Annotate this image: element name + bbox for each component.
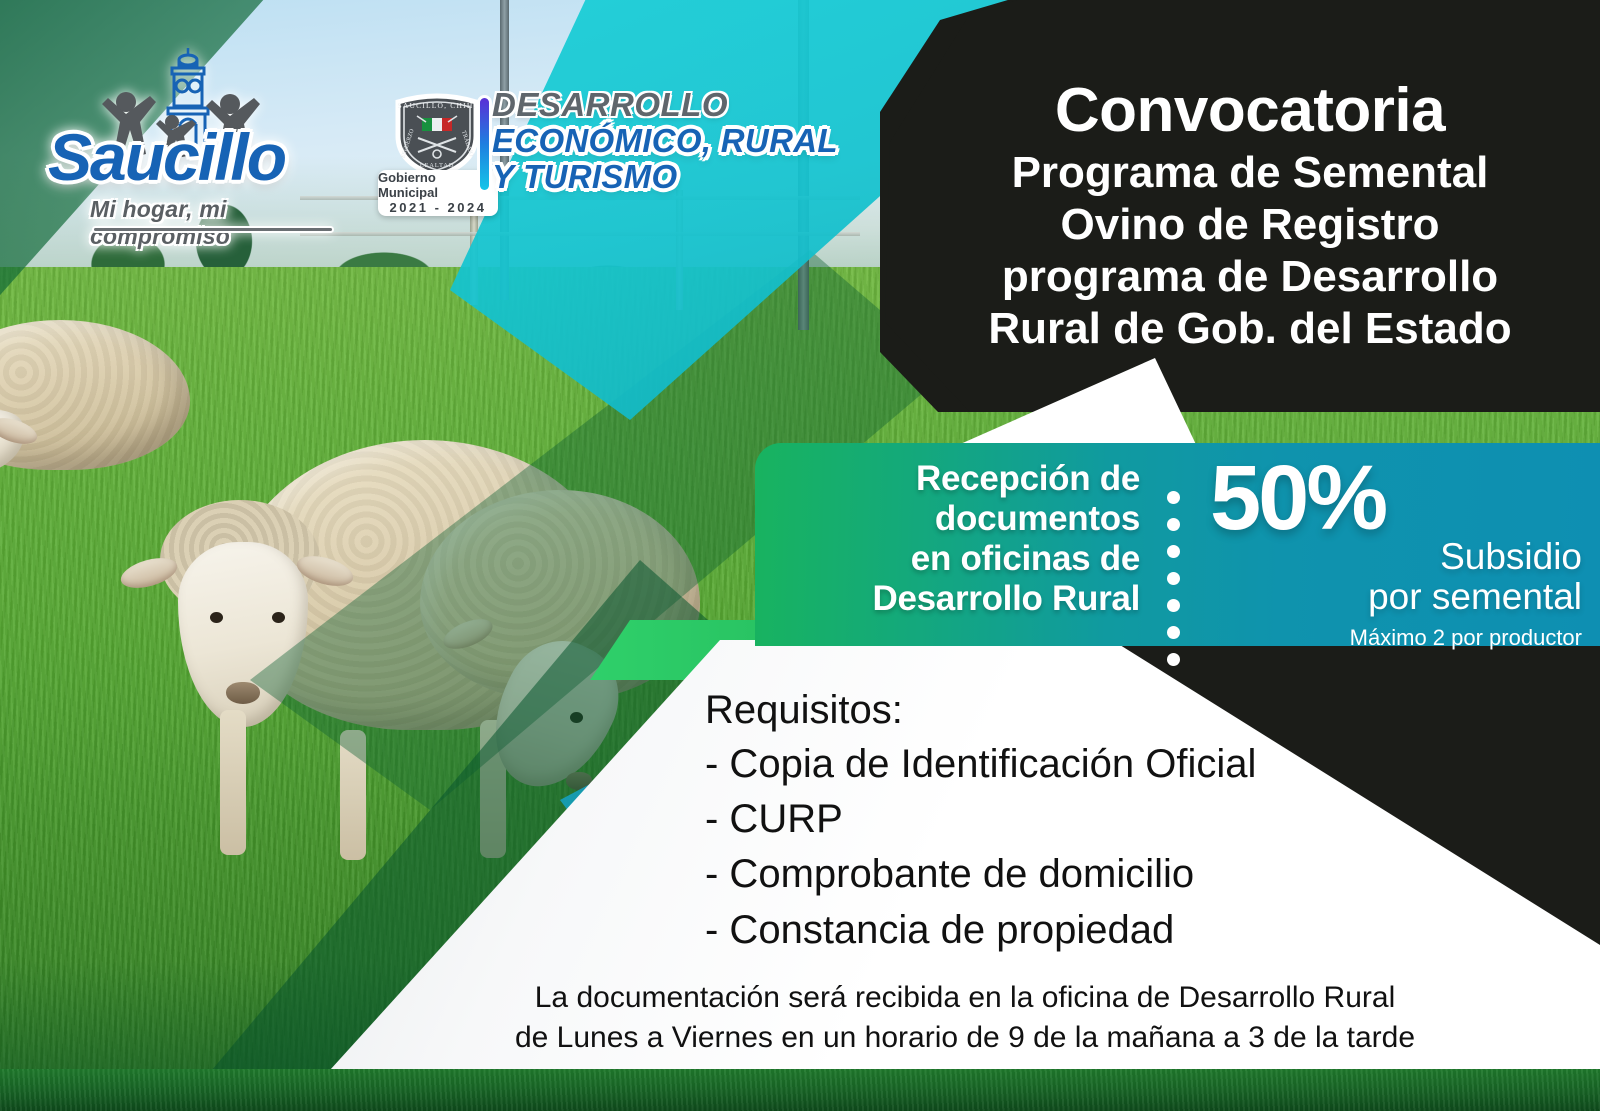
coat-of-arms: SAUCILLO, CHIH. ESFUERZO TRABAJO LEALTAD… [384, 92, 492, 210]
logo-tagline: Mi hogar, mi compromiso [90, 196, 340, 250]
divider-dot [1167, 545, 1180, 558]
department-line-2: ECONÓMICO, RURAL [492, 123, 872, 159]
divider-dot [1167, 572, 1180, 585]
subsidy-block: 50% Subsidio por semental Máximo 2 por p… [1210, 453, 1590, 651]
department-line-3: Y TURISMO [492, 159, 872, 195]
footer-line-2: de Lunes a Viernes en un horario de 9 de… [330, 1018, 1600, 1058]
logo-wordmark: Saucillo [48, 124, 338, 190]
saucillo-logo: Saucillo Mi hogar, mi compromiso [38, 46, 338, 251]
divider-dot [1167, 599, 1180, 612]
arms-motto-bottom: LEALTAD [420, 162, 454, 169]
department-lockup: DESARROLLO ECONÓMICO, RURAL Y TURISMO [492, 88, 872, 194]
subsidy-label-2: por semental [1210, 577, 1590, 617]
reception-line-4: Desarrollo Rural [785, 579, 1140, 619]
divider-dot [1167, 491, 1180, 504]
logo-underline [94, 228, 332, 231]
reception-line-2: documentos [785, 499, 1140, 539]
subsidy-percent: 50% [1210, 453, 1590, 543]
department-line-1: DESARROLLO [492, 88, 872, 121]
headline-subtitle-3: programa de Desarrollo [900, 251, 1600, 303]
requirement-item: - Comprobante de domicilio [705, 847, 1525, 902]
shield-icon: SAUCILLO, CHIH. ESFUERZO TRABAJO LEALTAD [392, 92, 482, 178]
reception-text-block: Recepción de documentos en oficinas de D… [785, 459, 1140, 619]
divider-dot [1167, 626, 1180, 639]
logo-sticker-backing: Saucillo Mi hogar, mi compromiso [38, 46, 338, 251]
divider-dot [1167, 653, 1180, 666]
headline-subtitle-4: Rural de Gob. del Estado [900, 303, 1600, 355]
requirement-item: - CURP [705, 792, 1525, 847]
requirements-title: Requisitos: [705, 683, 1525, 737]
department-accent-bar [480, 98, 489, 190]
government-term: 2021 - 2024 [390, 200, 487, 215]
footer-line-1: La documentación será recibida en la ofi… [330, 978, 1600, 1018]
requirement-item: - Copia de Identificación Oficial [705, 737, 1525, 792]
bottom-grass-strip [0, 1069, 1600, 1111]
arms-top-text: SAUCILLO, CHIH. [397, 101, 476, 110]
headline-subtitle-1: Programa de Semental [900, 147, 1600, 199]
dotted-divider [1167, 491, 1180, 666]
headline-block: Convocatoria Programa de Semental Ovino … [900, 78, 1600, 355]
subsidy-band: Recepción de documentos en oficinas de D… [755, 443, 1600, 646]
reception-line-1: Recepción de [785, 459, 1140, 499]
page-title: Convocatoria [900, 78, 1600, 143]
reception-line-3: en oficinas de [785, 539, 1140, 579]
subsidy-limit-note: Máximo 2 por productor [1210, 625, 1590, 651]
headline-subtitle-2: Ovino de Registro [900, 199, 1600, 251]
requirements-block: Requisitos: - Copia de Identificación Of… [705, 683, 1525, 958]
poster: Convocatoria Programa de Semental Ovino … [0, 0, 1600, 1111]
footer-note: La documentación será recibida en la ofi… [330, 978, 1600, 1058]
requirement-item: - Constancia de propiedad [705, 903, 1525, 958]
divider-dot [1167, 518, 1180, 531]
